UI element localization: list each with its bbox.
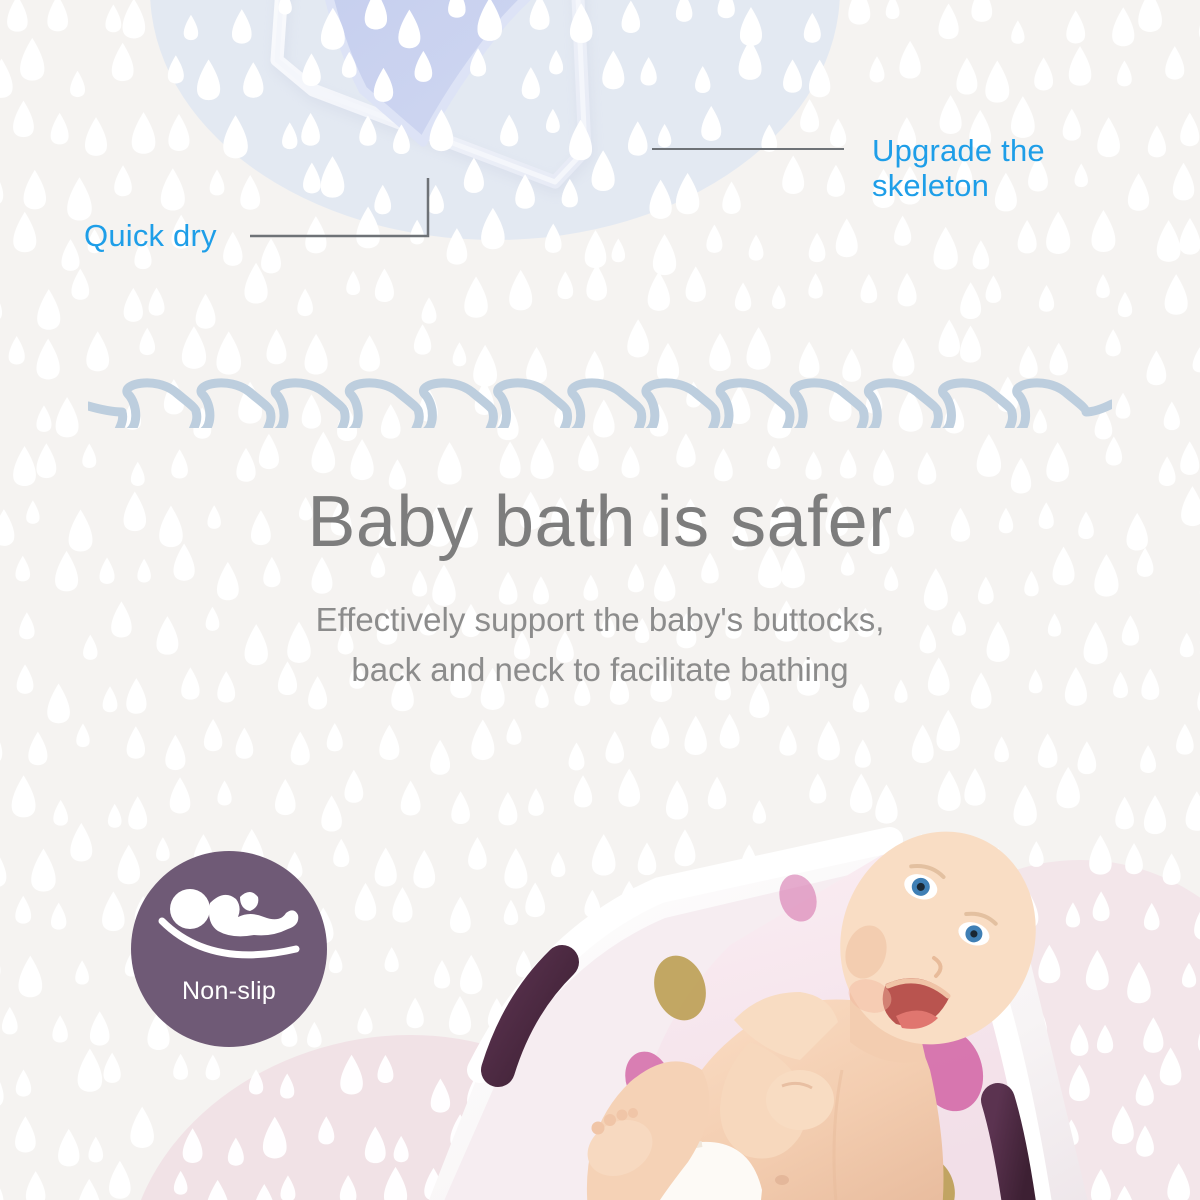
reclining-baby-icon <box>154 883 304 971</box>
callout-upgrade-line2: skeleton <box>872 169 1132 204</box>
page-headline: Baby bath is safer <box>0 486 1200 558</box>
page-subheadline: Effectively support the baby's buttocks,… <box>0 595 1200 695</box>
photo-baby-in-bath-seat <box>330 770 1090 1200</box>
callout-label-quick-dry: Quick dry <box>84 219 217 254</box>
leader-line-upgrade <box>652 148 844 154</box>
callout-label-upgrade-skeleton: Upgrade the skeleton <box>872 134 1132 203</box>
poster-canvas: Quick dry Upgrade the skeleton Baby bath… <box>0 0 1200 1200</box>
badge-non-slip: Non-slip <box>131 851 327 1047</box>
leader-line-quick-dry <box>250 176 432 240</box>
subheadline-line1: Effectively support the baby's buttocks, <box>0 595 1200 645</box>
callout-upgrade-line1: Upgrade the <box>872 134 1132 169</box>
subheadline-line2: back and neck to facilitate bathing <box>0 645 1200 695</box>
badge-label-non-slip: Non-slip <box>182 977 276 1006</box>
decorative-curl-divider <box>88 368 1112 428</box>
